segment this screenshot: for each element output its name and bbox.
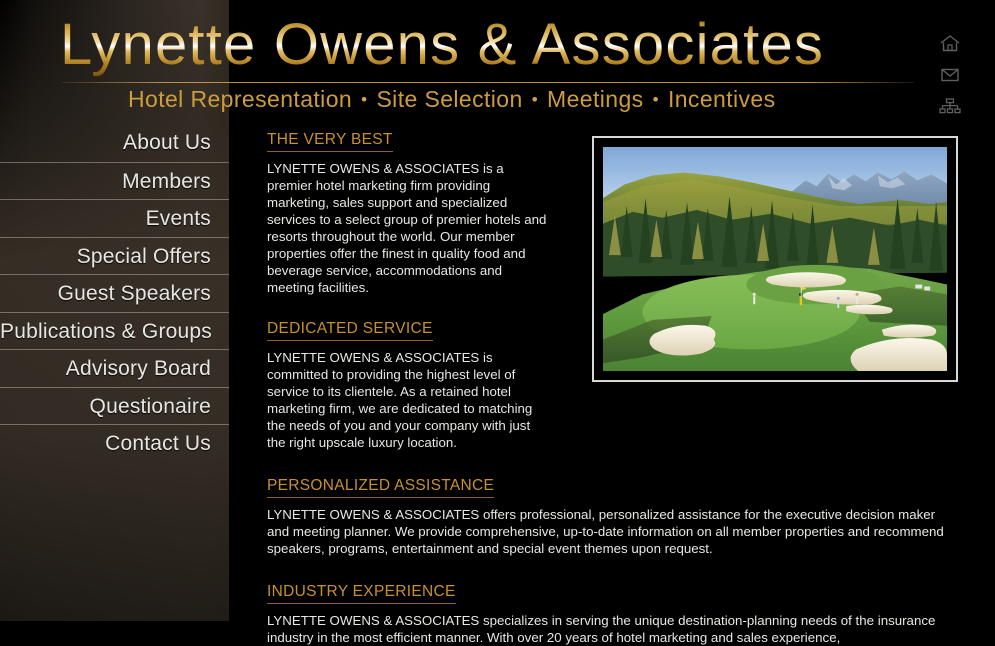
sidebar-item-members[interactable]: Members <box>0 162 229 200</box>
sidebar-item-label: About Us <box>123 131 211 154</box>
section-heading: DEDICATED SERVICE <box>267 320 433 341</box>
sidebar-item-label: Advisory Board <box>66 357 211 380</box>
tagline-bullet-icon: • <box>352 90 376 109</box>
sidebar-navigation: About Us Members Events Special Offers G… <box>0 124 229 462</box>
section-heading: PERSONALIZED ASSISTANCE <box>267 477 494 498</box>
sidebar-item-label: Publications & Groups <box>0 320 212 343</box>
site-tagline: Hotel Representation•Site Selection•Meet… <box>128 86 918 113</box>
section-dedicated-service: DEDICATED SERVICE LYNETTE OWENS & ASSOCI… <box>267 320 967 451</box>
section-body: LYNETTE OWENS & ASSOCIATES specializes i… <box>267 612 957 646</box>
section-heading: THE VERY BEST <box>267 131 393 152</box>
site-header: Lynette Owens & Associates Hotel Represe… <box>0 0 995 124</box>
sidebar-item-label: Members <box>122 170 211 193</box>
main-content: THE VERY BEST LYNETTE OWENS & ASSOCIATES… <box>267 131 967 646</box>
section-spacer <box>267 451 967 477</box>
tagline-part-4: Incentives <box>668 86 776 112</box>
section-body: LYNETTE OWENS & ASSOCIATES is committed … <box>267 349 550 451</box>
email-icon[interactable] <box>939 66 961 84</box>
section-the-very-best: THE VERY BEST LYNETTE OWENS & ASSOCIATES… <box>267 131 967 296</box>
tagline-part-2: Site Selection <box>376 86 522 112</box>
section-spacer <box>267 557 967 583</box>
sidebar-item-questionaire[interactable]: Questionaire <box>0 387 229 425</box>
sidebar-item-label: Events <box>146 207 211 230</box>
tagline-bullet-icon: • <box>523 90 547 109</box>
section-body: LYNETTE OWENS & ASSOCIATES offers profes… <box>267 506 957 557</box>
tagline-part-3: Meetings <box>547 86 644 112</box>
sidebar-item-special-offers[interactable]: Special Offers <box>0 237 229 275</box>
sidebar-item-contact-us[interactable]: Contact Us <box>0 424 229 462</box>
sidebar-item-advisory-board[interactable]: Advisory Board <box>0 349 229 387</box>
home-icon[interactable] <box>939 34 961 52</box>
section-industry-experience: INDUSTRY EXPERIENCE LYNETTE OWENS & ASSO… <box>267 583 967 646</box>
sidebar-item-publications-groups[interactable]: Publications & Groups <box>0 312 229 350</box>
sidebar-item-label: Questionaire <box>90 395 211 418</box>
logo-divider-rule <box>62 82 914 83</box>
section-personalized-assistance: PERSONALIZED ASSISTANCE LYNETTE OWENS & … <box>267 477 967 557</box>
sidebar-item-label: Guest Speakers <box>58 282 211 305</box>
sidebar-item-label: Contact Us <box>105 432 211 455</box>
site-logo-title: Lynette Owens & Associates <box>60 14 920 76</box>
section-spacer <box>267 296 967 320</box>
tagline-bullet-icon: • <box>644 90 668 109</box>
section-body: LYNETTE OWENS & ASSOCIATES is a premier … <box>267 160 550 296</box>
sitemap-icon[interactable] <box>939 98 961 116</box>
sidebar-item-guest-speakers[interactable]: Guest Speakers <box>0 274 229 312</box>
tagline-part-1: Hotel Representation <box>128 86 352 112</box>
sidebar-item-about-us[interactable]: About Us <box>0 124 229 162</box>
header-icon-group <box>935 34 965 116</box>
sidebar-item-label: Special Offers <box>77 245 211 268</box>
sidebar-item-events[interactable]: Events <box>0 199 229 237</box>
section-heading: INDUSTRY EXPERIENCE <box>267 583 456 604</box>
